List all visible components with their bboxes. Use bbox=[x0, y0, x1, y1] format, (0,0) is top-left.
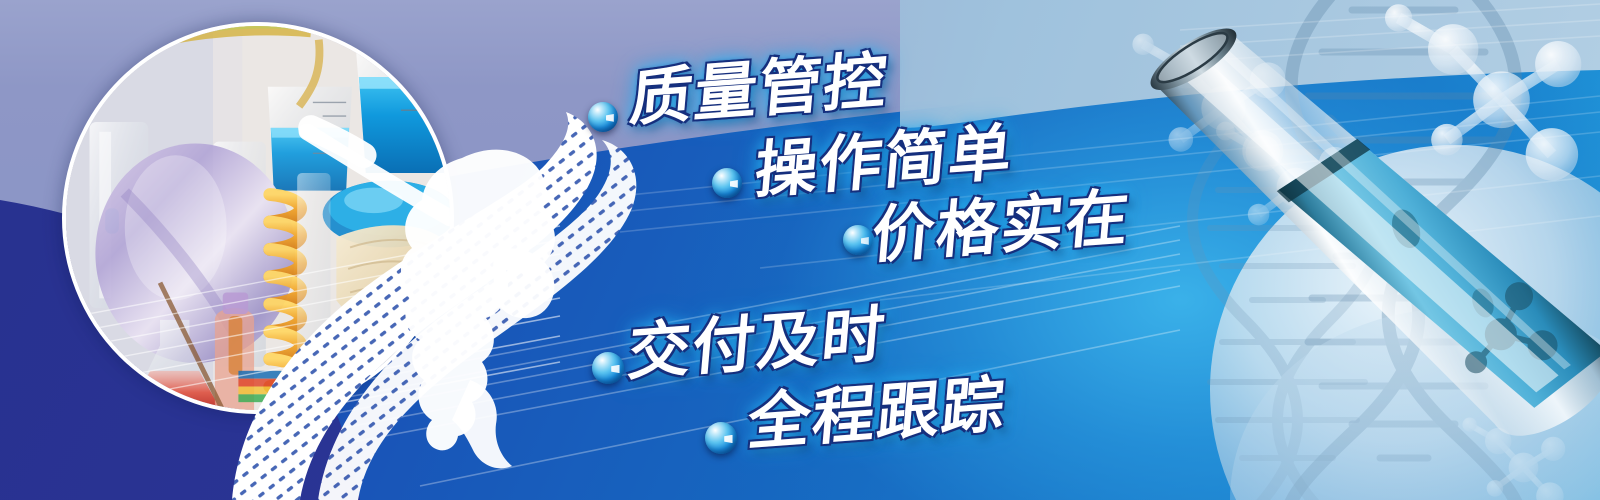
headline-quality-control: 质量管控 bbox=[627, 49, 891, 130]
bullet-quality-control bbox=[588, 102, 618, 132]
test-tube-graphic bbox=[1060, 10, 1600, 500]
bullet-on-time-delivery bbox=[592, 352, 624, 384]
headline-full-process-tracking: 全程跟踪 bbox=[745, 373, 1009, 454]
headline-honest-price: 价格实在 bbox=[869, 186, 1133, 267]
promo-banner: 质量管控 操作简单 价格实在 交付及时 全程跟踪 bbox=[0, 0, 1600, 500]
headline-simple-operation: 操作简单 bbox=[752, 121, 1016, 202]
bullet-honest-price bbox=[843, 225, 873, 255]
bullet-full-process-tracking bbox=[705, 422, 737, 454]
headline-on-time-delivery: 交付及时 bbox=[625, 303, 889, 384]
bullet-simple-operation bbox=[712, 168, 742, 198]
